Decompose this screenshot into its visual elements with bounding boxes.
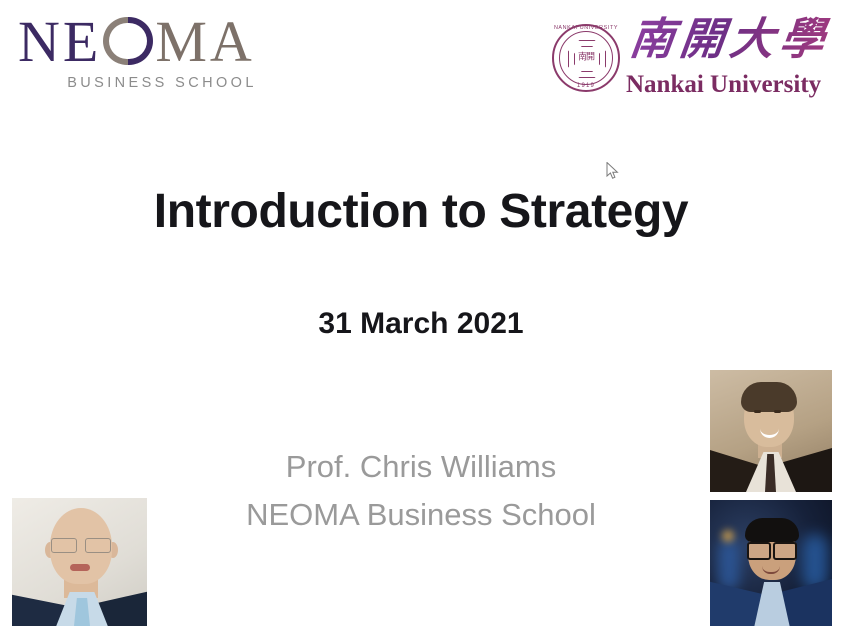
neoma-o-icon xyxy=(103,15,153,67)
speaker-a-eye-right xyxy=(774,410,781,413)
seal-year-text: 1919 xyxy=(552,83,620,89)
neoma-letters-ma: MA xyxy=(155,9,254,74)
speaker-b-bokeh-left xyxy=(718,540,740,590)
video-tile-speaker-c[interactable] xyxy=(12,498,147,626)
seal-arc-text: NANKAI UNIVERSITY xyxy=(552,25,620,31)
arrow-pointer-icon xyxy=(606,162,620,180)
neoma-letters-ne: NE xyxy=(18,9,101,74)
nankai-chinese-name: 南開大學 xyxy=(627,14,833,66)
speaker-c-glasses-icon xyxy=(51,538,111,553)
seal-center-characters: 南開 xyxy=(552,54,620,63)
slide-date: 31 March 2021 xyxy=(0,304,842,344)
video-tile-speaker-a[interactable] xyxy=(710,370,832,492)
nankai-english-name: Nankai University xyxy=(626,70,821,100)
neoma-subtitle: BUSINESS SCHOOL xyxy=(18,72,280,91)
neoma-wordmark: NEMA xyxy=(18,12,280,72)
neoma-logo: NEMA BUSINESS SCHOOL xyxy=(18,12,280,94)
speaker-a-eye-left xyxy=(754,410,761,413)
nankai-university-logo: NANKAI UNIVERSITY 南開 1919 南開大學 Nankai Un… xyxy=(552,14,830,102)
speaker-b-glasses-icon xyxy=(747,542,797,557)
speaker-b-bokeh-light xyxy=(722,530,734,542)
slide-title: Introduction to Strategy xyxy=(0,181,842,243)
presentation-slide: NEMA BUSINESS SCHOOL NANKAI UNIVERSITY 南… xyxy=(0,0,842,626)
speaker-c-mouth xyxy=(70,564,90,571)
speaker-b-hair xyxy=(745,518,799,542)
nankai-seal-icon: NANKAI UNIVERSITY 南開 1919 xyxy=(552,24,620,92)
speaker-a-hair xyxy=(741,382,797,412)
video-tile-speaker-b[interactable] xyxy=(710,500,832,626)
